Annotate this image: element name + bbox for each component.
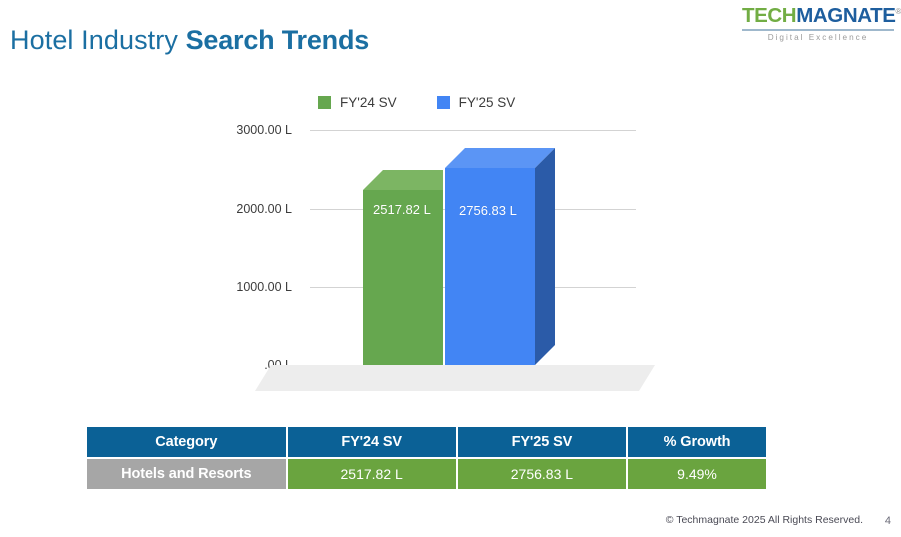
y-tick-label-1000: 1000.00 L	[204, 280, 292, 294]
table-header-row: Category FY'24 SV FY'25 SV % Growth	[87, 427, 766, 457]
y-axis-ticks: 3000.00 L 2000.00 L 1000.00 L .00 L	[204, 85, 292, 405]
page-title-bold: Search Trends	[186, 25, 370, 55]
page-title: Hotel Industry Search Trends	[10, 26, 369, 56]
bar-fy25-front-face	[445, 168, 535, 365]
table-cell-fy24: 2517.82 L	[288, 459, 456, 489]
slide: TECHMAGNATE® Digital Excellence Hotel In…	[0, 0, 901, 537]
logo-tagline: Digital Excellence	[742, 33, 894, 42]
table-row: Hotels and Resorts 2517.82 L 2756.83 L 9…	[87, 459, 766, 489]
table-cell-fy25: 2756.83 L	[458, 459, 626, 489]
logo-tech-text: TECH	[742, 4, 796, 27]
techmagnate-logo: TECHMAGNATE® Digital Excellence	[742, 6, 894, 42]
page-number: 4	[885, 515, 891, 527]
search-trends-table: Category FY'24 SV FY'25 SV % Growth Hote…	[85, 425, 768, 491]
y-tick-label-3000: 3000.00 L	[204, 123, 292, 137]
logo-wordmark: TECHMAGNATE®	[742, 6, 901, 27]
table-cell-category: Hotels and Resorts	[87, 459, 286, 489]
table-cell-growth: 9.49%	[628, 459, 766, 489]
chart-plot-area: 3000.00 L 2000.00 L 1000.00 L .00 L 2517…	[0, 85, 901, 405]
bar-fy24[interactable]: 2517.82 L	[363, 170, 443, 365]
bar-fy25-side-face	[535, 148, 555, 365]
y-tick-label-2000: 2000.00 L	[204, 202, 292, 216]
logo-divider	[742, 29, 894, 31]
search-trends-chart: FY'24 SV FY'25 SV 3000.00 L 2000.00 L 10…	[0, 85, 901, 405]
table-header-fy25: FY'25 SV	[458, 427, 626, 457]
page-title-light: Hotel Industry	[10, 25, 186, 55]
bar-fy25-value-label: 2756.83 L	[459, 203, 517, 218]
bar-fy25[interactable]: 2756.83 L	[445, 148, 535, 365]
bar-fy24-top-face	[363, 170, 443, 190]
table-header-category: Category	[87, 427, 286, 457]
logo-magnate-text: MAGNATE	[796, 4, 895, 27]
table-header-fy24: FY'24 SV	[288, 427, 456, 457]
gridline-3000	[310, 130, 636, 131]
table-header-growth: % Growth	[628, 427, 766, 457]
copyright-text: © Techmagnate 2025 All Rights Reserved.	[666, 514, 863, 526]
registered-trademark-icon: ®	[896, 7, 901, 16]
bar-fy24-value-label: 2517.82 L	[373, 202, 431, 217]
chart-floor-plane	[255, 365, 655, 391]
